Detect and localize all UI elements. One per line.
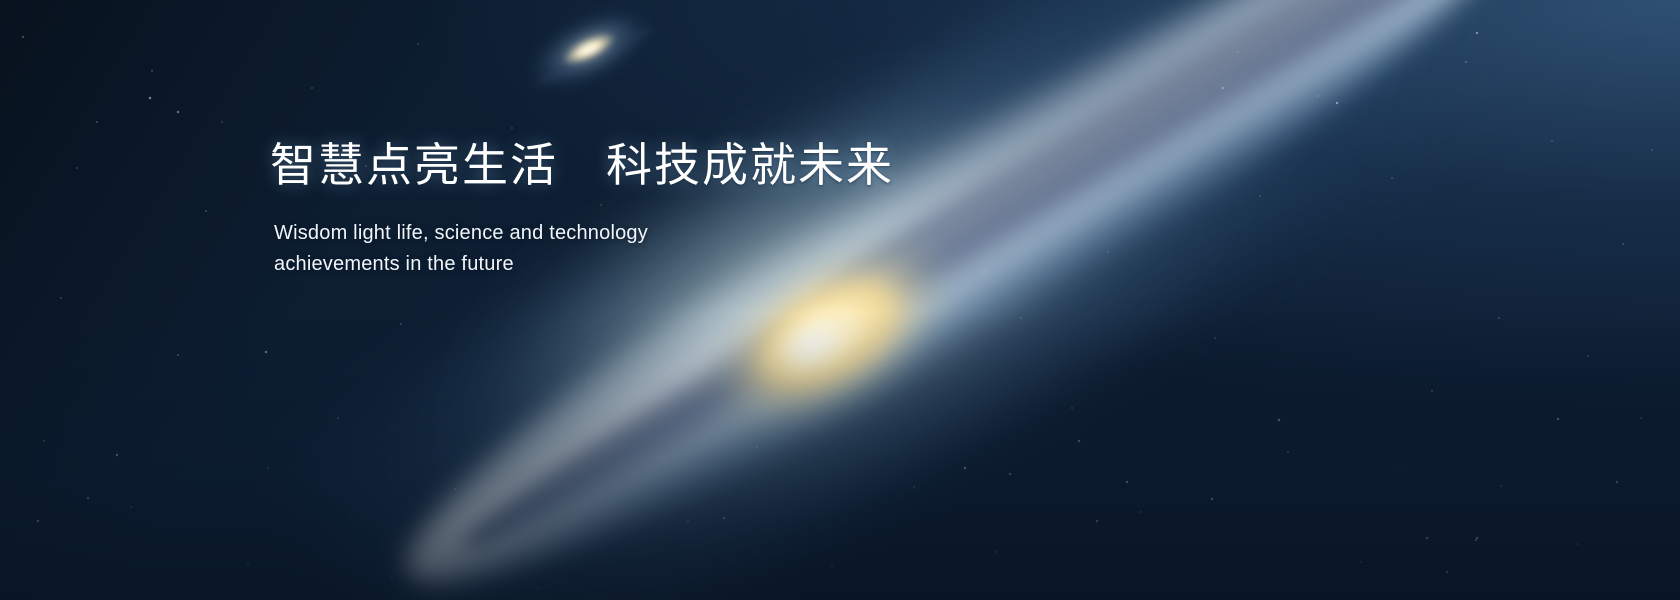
banner-copy: 智慧点亮生活 科技成就未来 Wisdom light life, science…	[270, 138, 1090, 279]
banner-headline: 智慧点亮生活 科技成就未来	[270, 138, 1090, 192]
hero-banner: 智慧点亮生活 科技成就未来 Wisdom light life, science…	[0, 0, 1680, 600]
banner-subtitle-line-2: achievements in the future	[274, 249, 674, 279]
banner-subtitle-line-1: Wisdom light life, science and technolog…	[274, 218, 674, 248]
banner-subtitle: Wisdom light life, science and technolog…	[274, 218, 674, 279]
bottom-vignette	[0, 0, 1680, 600]
